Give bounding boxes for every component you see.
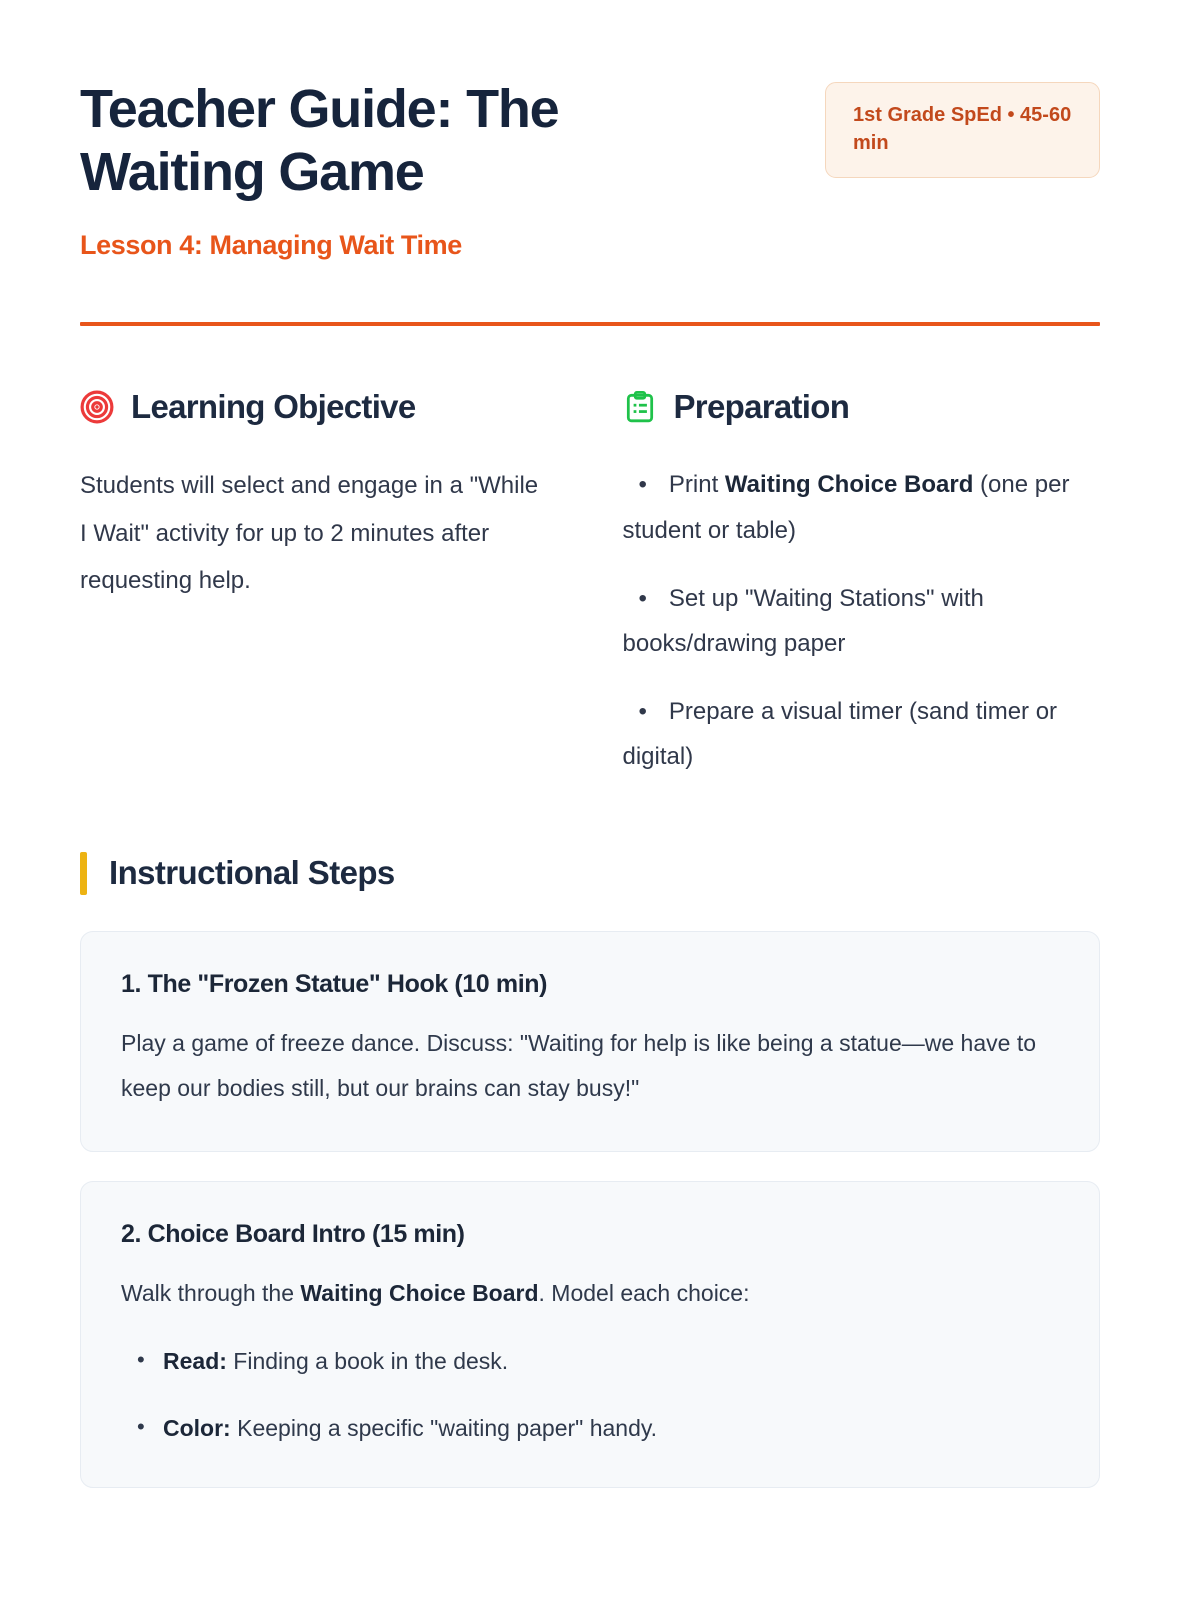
item-lead: Set up "Waiting Stations" with books/dra… xyxy=(623,585,984,658)
step-card: 2. Choice Board Intro (15 min) Walk thro… xyxy=(80,1181,1100,1488)
bullet-glyph: • xyxy=(639,585,669,612)
choice-list: Read: Finding a book in the desk. Color:… xyxy=(121,1343,1065,1447)
overview-columns: Learning Objective Students will select … xyxy=(80,388,1100,780)
list-item: Color: Keeping a specific "waiting paper… xyxy=(163,1410,1065,1447)
list-item: Read: Finding a book in the desk. xyxy=(163,1343,1065,1380)
document-header: Teacher Guide: The Waiting Game Lesson 4… xyxy=(80,78,1100,261)
instructional-steps-list: 1. The "Frozen Statue" Hook (10 min) Pla… xyxy=(80,931,1100,1488)
instructional-steps-header: Instructional Steps xyxy=(80,852,1100,895)
choice-label: Read: xyxy=(163,1348,227,1374)
step-body: Play a game of freeze dance. Discuss: "W… xyxy=(121,1021,1065,1111)
bullet-glyph: • xyxy=(639,471,669,498)
header-divider xyxy=(80,322,1100,326)
item-lead: Prepare a visual timer (sand timer or di… xyxy=(623,698,1058,771)
section-accent-bar xyxy=(80,852,87,895)
preparation-heading: Preparation xyxy=(674,388,850,426)
step-title: 2. Choice Board Intro (15 min) xyxy=(121,1220,1065,1249)
learning-objective-text: Students will select and engage in a "Wh… xyxy=(80,462,545,605)
choice-text: Finding a book in the desk. xyxy=(227,1348,508,1374)
item-emphasis: Waiting Choice Board xyxy=(725,471,973,498)
page-title: Teacher Guide: The Waiting Game xyxy=(80,78,720,204)
preparation-section: Preparation •Print Waiting Choice Board … xyxy=(623,388,1101,780)
step-body-tail: . Model each choice: xyxy=(539,1280,750,1306)
bullet-glyph: • xyxy=(639,698,669,725)
choice-label: Color: xyxy=(163,1415,231,1441)
learning-objective-header: Learning Objective xyxy=(80,388,545,426)
clipboard-icon xyxy=(623,390,657,424)
step-card: 1. The "Frozen Statue" Hook (10 min) Pla… xyxy=(80,931,1100,1152)
learning-objective-section: Learning Objective Students will select … xyxy=(80,388,545,780)
list-item: •Print Waiting Choice Board (one per stu… xyxy=(623,462,1101,553)
step-title: 1. The "Frozen Statue" Hook (10 min) xyxy=(121,970,1065,999)
learning-objective-heading: Learning Objective xyxy=(131,388,415,426)
step-body-emphasis: Waiting Choice Board xyxy=(300,1280,538,1306)
list-item: •Prepare a visual timer (sand timer or d… xyxy=(623,689,1101,780)
step-body: Walk through the Waiting Choice Board. M… xyxy=(121,1271,1065,1316)
target-icon xyxy=(80,390,114,424)
lesson-subtitle: Lesson 4: Managing Wait Time xyxy=(80,230,720,261)
step-body-lead: Play a game of freeze dance. Discuss: "W… xyxy=(121,1030,1036,1101)
instructional-steps-heading: Instructional Steps xyxy=(109,854,395,892)
header-text-block: Teacher Guide: The Waiting Game Lesson 4… xyxy=(80,78,720,261)
preparation-header: Preparation xyxy=(623,388,1101,426)
choice-text: Keeping a specific "waiting paper" handy… xyxy=(231,1415,657,1441)
grade-duration-badge: 1st Grade SpEd • 45-60 min xyxy=(825,82,1100,178)
teacher-guide-document: Teacher Guide: The Waiting Game Lesson 4… xyxy=(0,0,1200,1600)
preparation-list: •Print Waiting Choice Board (one per stu… xyxy=(623,462,1101,780)
item-lead: Print xyxy=(669,471,725,498)
step-body-lead: Walk through the xyxy=(121,1280,300,1306)
list-item: •Set up "Waiting Stations" with books/dr… xyxy=(623,576,1101,667)
